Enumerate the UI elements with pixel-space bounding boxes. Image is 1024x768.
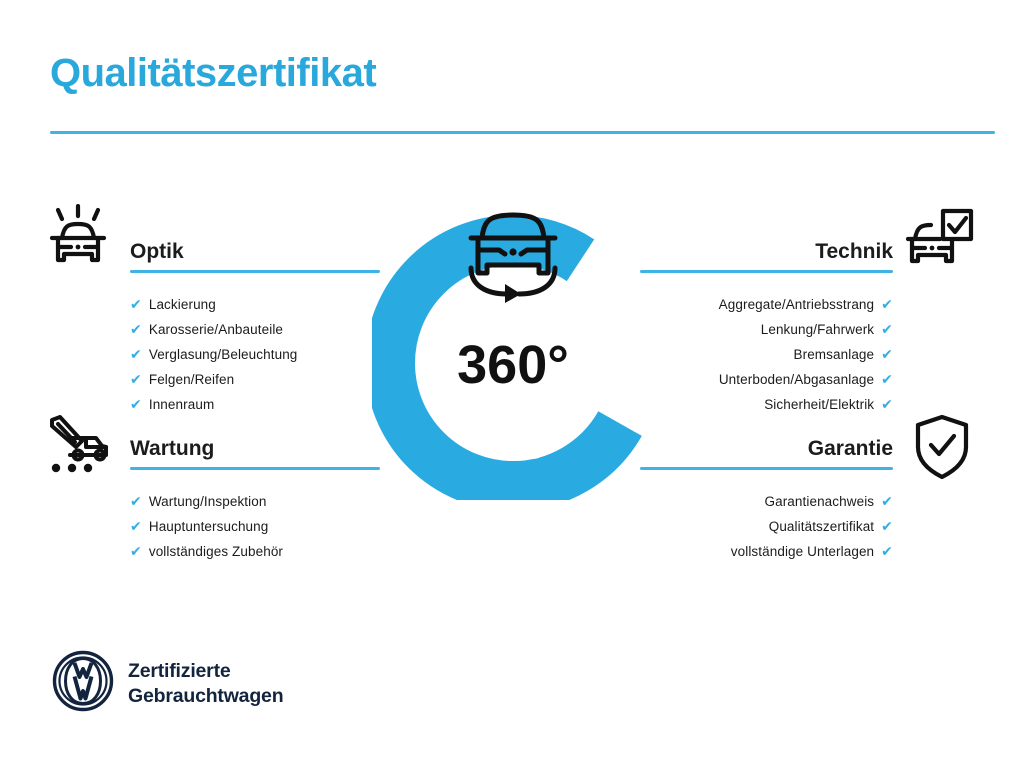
- check-icon: ✔: [130, 493, 142, 509]
- car-checkbox-icon: [906, 208, 974, 277]
- 360-check-badge: Gebrauchtwagen-Check 360°: [372, 190, 654, 500]
- section-wartung: Wartung ✔Wartung/Inspektion ✔Hauptunters…: [130, 435, 380, 580]
- list-item: Qualitätszertifikat✔: [640, 514, 893, 539]
- certificate-page: Qualitätszertifikat: [0, 0, 1024, 768]
- section-title: Garantie: [640, 435, 893, 463]
- section-header: Garantie: [640, 435, 893, 475]
- list-item: ✔Verglasung/Beleuchtung: [130, 342, 380, 367]
- section-divider: [640, 467, 893, 470]
- section-header: Technik: [640, 238, 893, 278]
- section-header: Wartung: [130, 435, 380, 475]
- car-service-tool-icon: [46, 414, 112, 481]
- checklist: Garantienachweis✔ Qualitätszertifikat✔ v…: [640, 489, 893, 564]
- list-item-label: vollständiges Zubehör: [149, 544, 283, 559]
- list-item: Unterboden/Abgasanlage✔: [640, 367, 893, 392]
- list-item: ✔Felgen/Reifen: [130, 367, 380, 392]
- list-item-label: Karosserie/Anbauteile: [149, 322, 283, 337]
- check-icon: ✔: [881, 321, 893, 337]
- list-item-label: Qualitätszertifikat: [769, 519, 874, 534]
- check-icon: ✔: [881, 543, 893, 559]
- check-icon: ✔: [881, 396, 893, 412]
- check-icon: ✔: [881, 493, 893, 509]
- volkswagen-logo: [52, 650, 114, 717]
- check-icon: ✔: [130, 396, 142, 412]
- section-divider: [640, 270, 893, 273]
- shield-check-icon: [912, 414, 972, 485]
- section-title: Wartung: [130, 435, 380, 463]
- list-item: ✔Karosserie/Anbauteile: [130, 317, 380, 342]
- list-item: ✔vollständiges Zubehör: [130, 539, 380, 564]
- list-item: Bremsanlage✔: [640, 342, 893, 367]
- section-optik: Optik ✔Lackierung ✔Karosserie/Anbauteile…: [130, 238, 380, 433]
- check-icon: ✔: [881, 346, 893, 362]
- list-item: Aggregate/Antriebsstrang✔: [640, 292, 893, 317]
- list-item: Sicherheit/Elektrik✔: [640, 392, 893, 417]
- list-item: Garantienachweis✔: [640, 489, 893, 514]
- list-item-label: Felgen/Reifen: [149, 372, 234, 387]
- section-divider: [130, 270, 380, 273]
- list-item-label: Lackierung: [149, 297, 216, 312]
- list-item: ✔Innenraum: [130, 392, 380, 417]
- list-item-label: Unterboden/Abgasanlage: [719, 372, 874, 387]
- list-item: ✔Lackierung: [130, 292, 380, 317]
- check-icon: ✔: [881, 296, 893, 312]
- check-icon: ✔: [130, 346, 142, 362]
- section-header: Optik: [130, 238, 380, 278]
- list-item-label: Wartung/Inspektion: [149, 494, 267, 509]
- check-icon: ✔: [130, 321, 142, 337]
- list-item-label: Hauptuntersuchung: [149, 519, 269, 534]
- check-icon: ✔: [130, 543, 142, 559]
- badge-value: 360°: [457, 335, 569, 395]
- section-divider: [130, 467, 380, 470]
- list-item: Lenkung/Fahrwerk✔: [640, 317, 893, 342]
- list-item-label: Verglasung/Beleuchtung: [149, 347, 298, 362]
- page-title: Qualitätszertifikat: [50, 52, 376, 94]
- check-icon: ✔: [881, 371, 893, 387]
- list-item-label: Aggregate/Antriebsstrang: [719, 297, 875, 312]
- list-item-label: Sicherheit/Elektrik: [764, 397, 874, 412]
- list-item: ✔Hauptuntersuchung: [130, 514, 380, 539]
- list-item: ✔Wartung/Inspektion: [130, 489, 380, 514]
- list-item: vollständige Unterlagen✔: [640, 539, 893, 564]
- wordmark-line-2: Gebrauchtwagen: [128, 684, 283, 709]
- check-icon: ✔: [130, 296, 142, 312]
- footer-brand: Zertifizierte Gebrauchtwagen: [52, 650, 283, 717]
- check-icon: ✔: [881, 518, 893, 534]
- list-item-label: Innenraum: [149, 397, 214, 412]
- wordmark-line-1: Zertifizierte: [128, 659, 283, 684]
- list-item-label: Garantienachweis: [764, 494, 874, 509]
- checklist: Aggregate/Antriebsstrang✔ Lenkung/Fahrwe…: [640, 292, 893, 417]
- brand-wordmark: Zertifizierte Gebrauchtwagen: [128, 659, 283, 709]
- check-icon: ✔: [130, 518, 142, 534]
- section-garantie: Garantie Garantienachweis✔ Qualitätszert…: [640, 435, 893, 580]
- list-item-label: vollständige Unterlagen: [731, 544, 874, 559]
- check-icon: ✔: [130, 371, 142, 387]
- section-technik: Technik Aggregate/Antriebsstrang✔ Lenkun…: [640, 238, 893, 433]
- list-item-label: Bremsanlage: [794, 347, 875, 362]
- list-item-label: Lenkung/Fahrwerk: [761, 322, 874, 337]
- title-divider: [50, 131, 995, 134]
- section-title: Technik: [640, 238, 893, 266]
- checklist: ✔Lackierung ✔Karosserie/Anbauteile ✔Verg…: [130, 292, 380, 417]
- section-title: Optik: [130, 238, 380, 266]
- car-shine-icon: [46, 204, 110, 277]
- checklist: ✔Wartung/Inspektion ✔Hauptuntersuchung ✔…: [130, 489, 380, 564]
